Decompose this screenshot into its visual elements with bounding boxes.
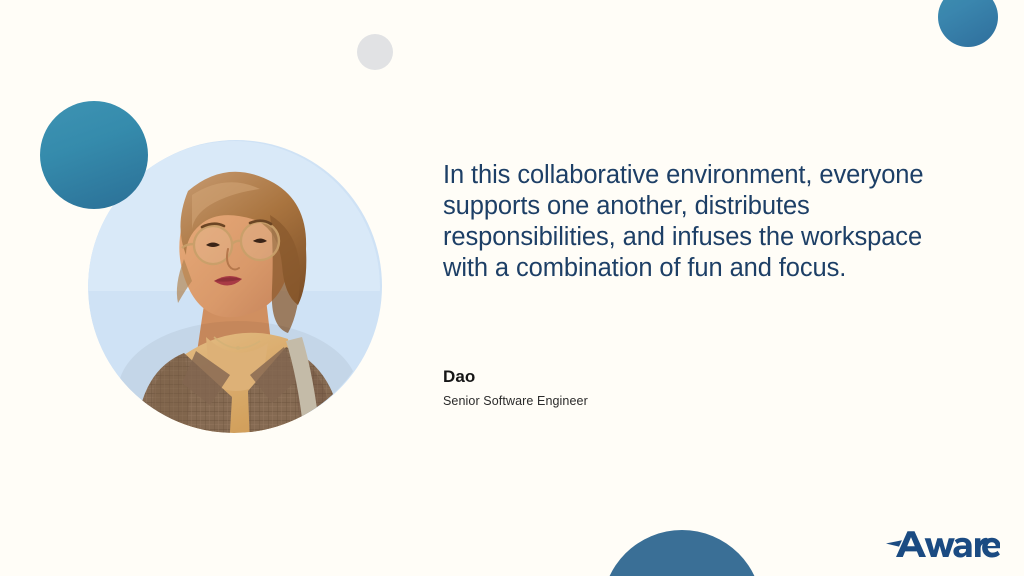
attribution: Dao Senior Software Engineer [443, 366, 588, 410]
attribution-role: Senior Software Engineer [443, 392, 588, 410]
testimonial-slide: In this collaborative environment, every… [0, 0, 1024, 576]
decorative-circle-small-gray [357, 34, 393, 70]
attribution-name: Dao [443, 366, 588, 388]
aware-logo [886, 526, 1000, 562]
decorative-circle-left [40, 101, 148, 209]
decorative-circle-bottom [602, 530, 762, 576]
quote-block: In this collaborative environment, every… [443, 160, 943, 284]
decorative-circle-top-right [938, 0, 998, 47]
quote-text: In this collaborative environment, every… [443, 160, 943, 284]
